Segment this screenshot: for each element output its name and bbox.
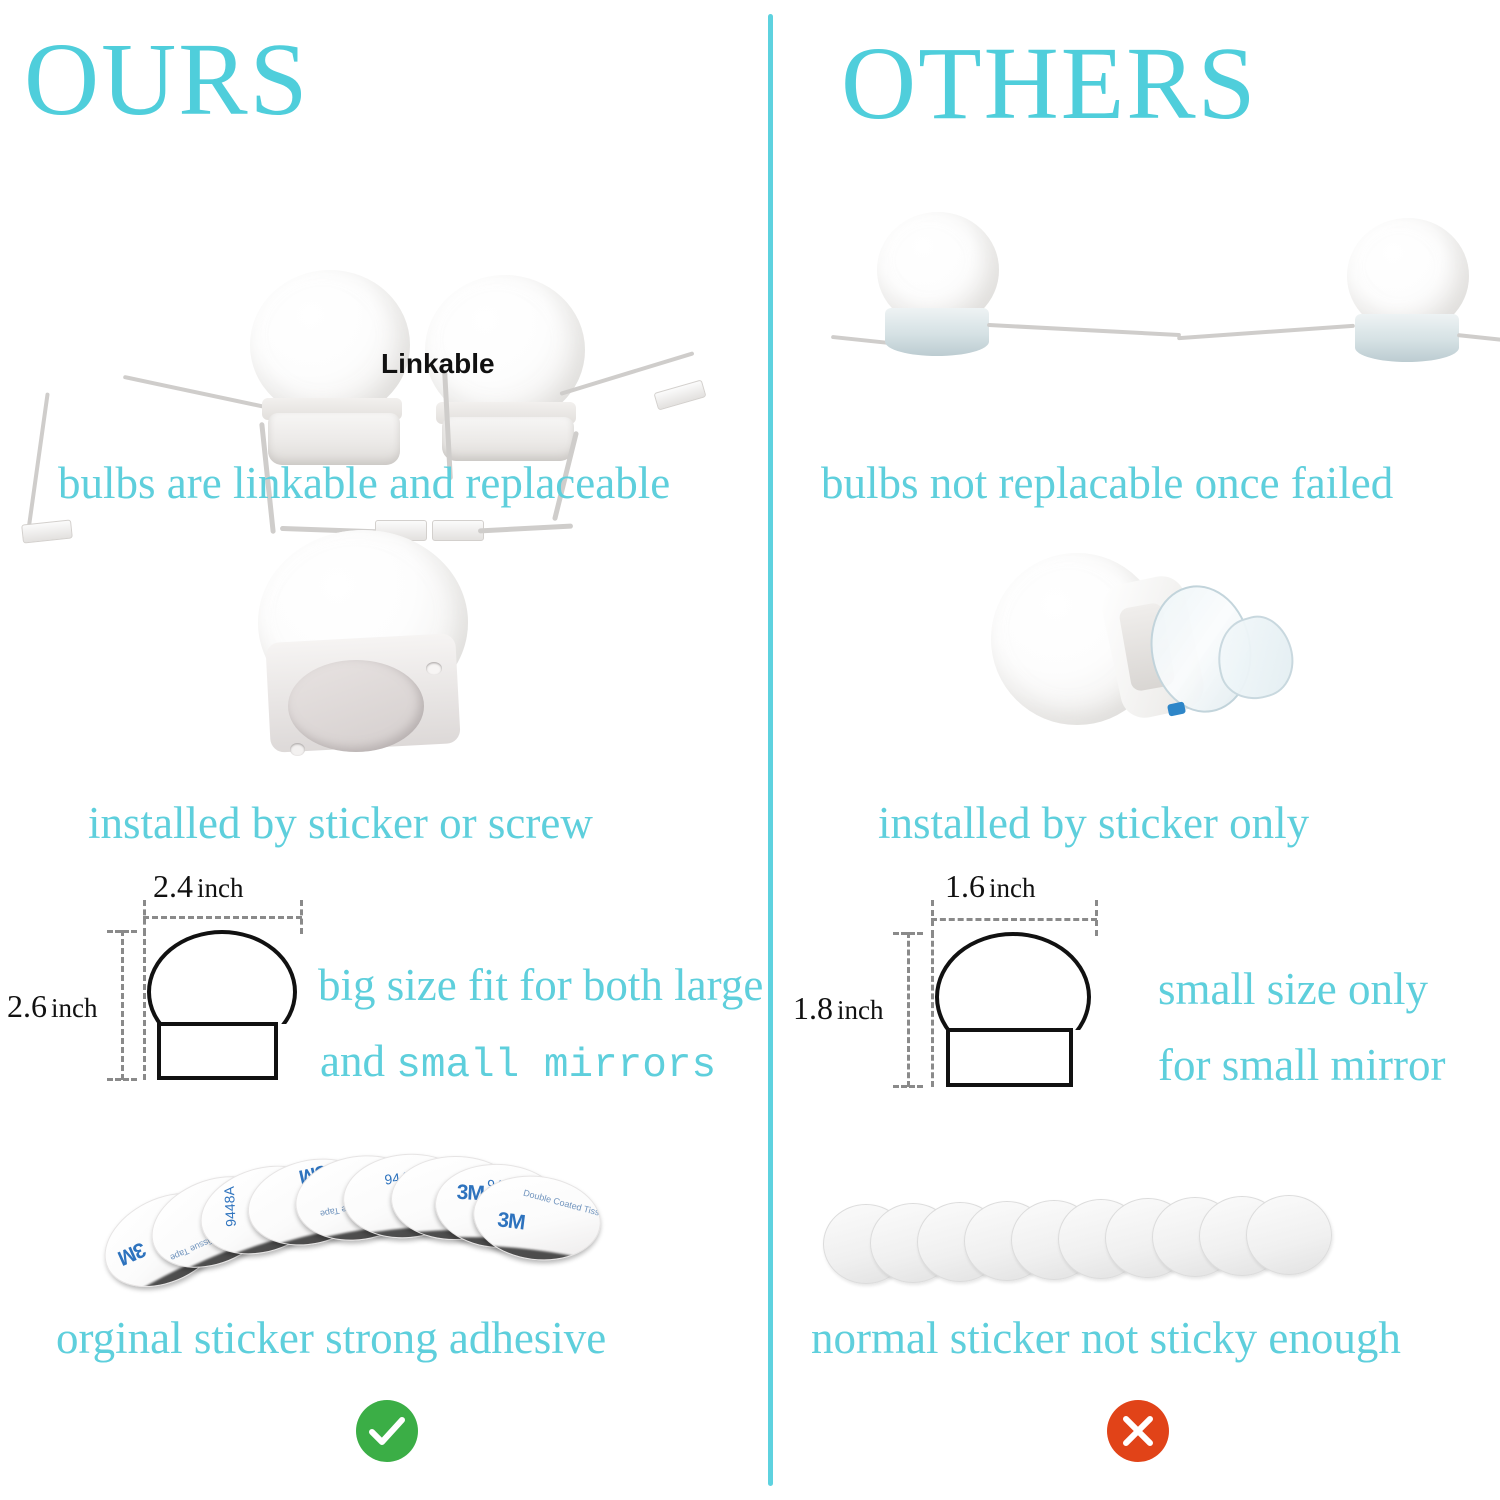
cross-icon bbox=[1107, 1400, 1169, 1462]
screw-hole-right bbox=[426, 662, 442, 675]
power-cord-left bbox=[26, 392, 49, 531]
cord-segment-left-upper bbox=[123, 375, 271, 410]
width-label: 2.4 inch bbox=[153, 868, 244, 905]
caption-small-size-line1: small size only bbox=[1158, 966, 1428, 1013]
photo-3m-sticker-pads: 3M 9448A Double Coated Tissue Tape 9448A… bbox=[95, 1150, 605, 1310]
height-tick-top bbox=[107, 930, 137, 933]
height-label: 1.8 inch bbox=[793, 990, 884, 1027]
screw-mount-plate bbox=[288, 660, 424, 752]
height-value: 1.8 bbox=[793, 990, 833, 1026]
caption-big-size-prefix: and bbox=[320, 1036, 385, 1086]
photo-plain-sticker-pads bbox=[823, 1190, 1463, 1300]
heading-others: OTHERS bbox=[841, 32, 1257, 136]
linkable-badge: Linkable bbox=[381, 348, 495, 380]
bulb-outline-base bbox=[946, 1028, 1073, 1087]
width-value: 2.4 bbox=[153, 868, 193, 904]
height-unit: inch bbox=[51, 993, 98, 1023]
width-dimension-line bbox=[143, 916, 302, 919]
bulb-outline-base bbox=[157, 1022, 278, 1080]
height-dimension-line bbox=[121, 930, 124, 1080]
height-ref-line-right bbox=[143, 930, 146, 1080]
height-tick-top bbox=[893, 932, 923, 935]
width-unit: inch bbox=[197, 873, 244, 903]
caption-normal-sticker: normal sticker not sticky enough bbox=[811, 1315, 1401, 1362]
width-dimension-line bbox=[931, 918, 1097, 921]
height-dimension-line bbox=[907, 932, 910, 1087]
caption-original-sticker: orginal sticker strong adhesive bbox=[56, 1315, 606, 1362]
comparison-infographic: OURS Linkable bbox=[0, 0, 1500, 1500]
check-icon bbox=[356, 1400, 418, 1462]
photo-screw-mount-bulb bbox=[230, 520, 530, 780]
cord-plug-left bbox=[21, 519, 73, 543]
photo-sticker-only-bulb bbox=[973, 535, 1293, 775]
suction-base-right bbox=[1355, 314, 1459, 362]
screw-hole-bottom bbox=[290, 743, 305, 756]
fixed-wire-right-tail bbox=[1457, 333, 1500, 343]
height-tick-bottom bbox=[893, 1085, 923, 1088]
size-diagram-others: 1.6 inch 1.8 inch bbox=[865, 872, 1185, 1107]
width-value: 1.6 bbox=[945, 868, 985, 904]
photo-fixed-wire-bulbs bbox=[773, 190, 1500, 390]
height-ref-line-right bbox=[931, 932, 934, 1087]
sticker-brand-mark: 3M bbox=[115, 1236, 150, 1269]
column-others: OTHERS bulbs not replacable once failed bbox=[773, 0, 1500, 1500]
width-unit: inch bbox=[989, 873, 1036, 903]
caption-installed-sticker-only: installed by sticker only bbox=[878, 800, 1309, 847]
caption-installed-sticker-or-screw: installed by sticker or screw bbox=[88, 800, 593, 847]
fixed-wire-middle bbox=[987, 323, 1181, 337]
caption-big-size-line2: and small mirrors bbox=[320, 1038, 716, 1088]
sticker-brand-mark: 3M bbox=[496, 1208, 526, 1235]
bulb-right-socket bbox=[442, 417, 574, 461]
suction-base-left bbox=[885, 308, 989, 356]
fixed-wire-left-tail bbox=[831, 335, 891, 345]
width-label: 1.6 inch bbox=[945, 868, 1036, 905]
column-ours: OURS Linkable bbox=[0, 0, 768, 1500]
tab-logo-fleck bbox=[1167, 701, 1186, 716]
caption-big-size-line1: big size fit for both large bbox=[318, 962, 763, 1009]
photo-linkable-bulbs bbox=[0, 130, 700, 440]
sticker-pad-plain bbox=[1246, 1195, 1332, 1275]
pad-edge bbox=[469, 1242, 596, 1267]
caption-small-size-line2: for small mirror bbox=[1158, 1042, 1445, 1089]
height-label: 2.6 inch bbox=[7, 988, 98, 1025]
caption-bulbs-not-replacable: bulbs not replacable once failed bbox=[821, 460, 1393, 507]
height-unit: inch bbox=[837, 995, 884, 1025]
height-value: 2.6 bbox=[7, 988, 47, 1024]
sticker-code: 9448A bbox=[221, 1186, 239, 1227]
fixed-wire-middle-2 bbox=[1177, 324, 1355, 340]
heading-ours: OURS bbox=[24, 28, 309, 132]
height-tick-bottom bbox=[107, 1078, 137, 1081]
caption-small-mirrors-mono: small mirrors bbox=[396, 1043, 716, 1089]
cord-plug-right-end bbox=[653, 379, 706, 410]
sticker-description: Double Coated Tissue Tape bbox=[522, 1188, 605, 1226]
caption-bulbs-linkable: bulbs are linkable and replaceable bbox=[58, 460, 670, 507]
